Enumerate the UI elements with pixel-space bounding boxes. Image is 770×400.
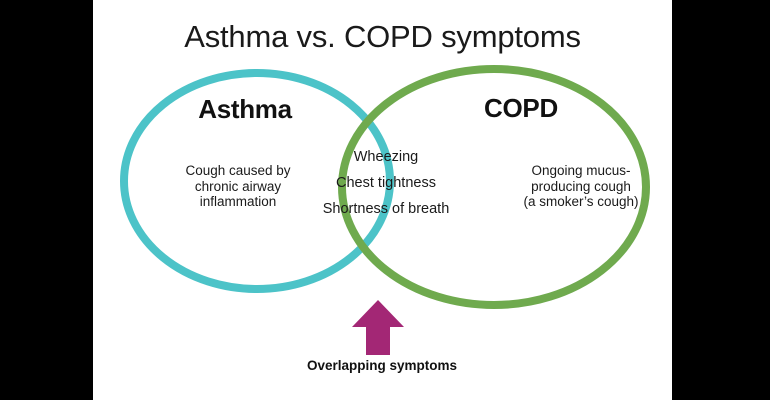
screenshot-canvas: Asthma vs. COPD symptoms Asthma COPD Cou…: [0, 0, 770, 400]
overlap-symptom-item: Shortness of breath: [296, 196, 476, 222]
overlap-symptom-item: Chest tightness: [296, 170, 476, 196]
copd-symptom-line: Ongoing mucus-: [481, 163, 672, 179]
copd-symptom-line: producing cough: [481, 179, 672, 195]
copd-heading: COPD: [411, 93, 631, 124]
asthma-heading: Asthma: [135, 94, 355, 125]
overlapping-symptoms-list: Wheezing Chest tightness Shortness of br…: [296, 144, 476, 222]
overlap-symptom-item: Wheezing: [296, 144, 476, 170]
overlap-arrow-icon: [352, 300, 404, 355]
copd-symptoms: Ongoing mucus- producing cough (a smoker…: [481, 163, 672, 210]
overlap-caption: Overlapping symptoms: [292, 358, 472, 373]
diagram-panel: Asthma vs. COPD symptoms Asthma COPD Cou…: [93, 0, 672, 400]
copd-symptom-line: (a smoker’s cough): [481, 194, 672, 210]
